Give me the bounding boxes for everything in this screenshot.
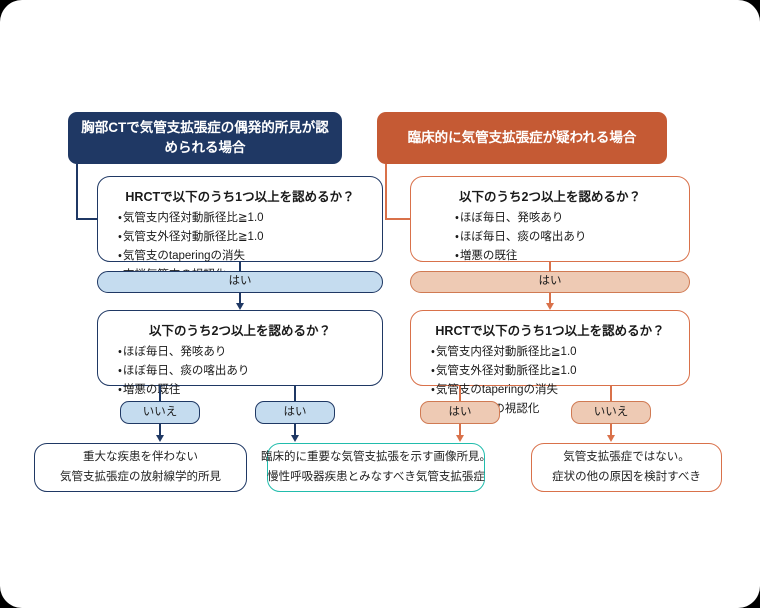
- left-arrow-yes-to-outcome: [291, 435, 299, 442]
- left-outcome-line-2: 気管支拡張症の放射線学的所見: [60, 468, 221, 488]
- flowchart-canvas: 胸部CTで気管支拡張症の偶発的所見が認められる場合 HRCTで以下のうち1つ以上…: [0, 0, 760, 608]
- right-answer-no-2[interactable]: いいえ: [571, 401, 651, 424]
- right-question-2-item-2: 気管支外径対動脈径比≧1.0: [431, 362, 675, 381]
- right-question-1-item-3: 増悪の既往: [455, 247, 675, 266]
- left-question-1-title: HRCTで以下のうち1つ以上を認めるか？: [112, 186, 368, 205]
- right-outcome-line-1: 気管支拡張症ではない。: [563, 448, 690, 468]
- right-header-banner: 臨床的に気管支拡張症が疑われる場合: [377, 112, 667, 164]
- left-answer-no-2[interactable]: いいえ: [120, 401, 200, 424]
- left-question-2-item-2: ほぼ毎日、痰の喀出あり: [118, 362, 368, 381]
- left-question-1[interactable]: HRCTで以下のうち1つ以上を認めるか？ 気管支内径対動脈径比≧1.0 気管支外…: [97, 176, 383, 262]
- shared-outcome-line-2: 慢性呼吸器疾患とみなすべき気管支拡張症: [267, 468, 485, 488]
- right-outcome-line-2: 症状の他の原因を検討すべき: [552, 468, 701, 488]
- right-connector-q2-to-no: [610, 386, 612, 402]
- right-arrow-yes-to-q2: [546, 303, 554, 310]
- left-outcome-radiologic[interactable]: 重大な疾患を伴わない 気管支拡張症の放射線学的所見: [34, 443, 247, 492]
- left-answer-no-2-label: いいえ: [143, 407, 178, 419]
- right-question-2[interactable]: HRCTで以下のうち1つ以上を認めるか？ 気管支内径対動脈径比≧1.0 気管支外…: [410, 310, 690, 386]
- left-question-2-list: ほぼ毎日、発咳あり ほぼ毎日、痰の喀出あり 増悪の既往: [112, 343, 368, 400]
- left-header-text: 胸部CTで気管支拡張症の偶発的所見が認められる場合: [80, 118, 330, 157]
- left-connector-header-vertical: [76, 164, 78, 220]
- left-connector-q2-to-no: [159, 386, 161, 402]
- right-question-1-list: ほぼ毎日、発咳あり ほぼ毎日、痰の喀出あり 増悪の既往: [425, 209, 675, 266]
- right-question-2-item-3: 気管支のtaperingの消失: [431, 381, 675, 400]
- shared-outcome-clinically-significant[interactable]: 臨床的に重要な気管支拡張を示す画像所見。 慢性呼吸器疾患とみなすべき気管支拡張症: [267, 443, 485, 492]
- right-answer-yes-1[interactable]: はい: [410, 271, 690, 293]
- left-question-2-title: 以下のうち2つ以上を認めるか？: [112, 320, 368, 339]
- left-answer-yes-1-label: はい: [229, 276, 252, 288]
- right-question-2-item-1: 気管支内径対動脈径比≧1.0: [431, 343, 675, 362]
- left-question-1-item-2: 気管支外径対動脈径比≧1.0: [118, 228, 368, 247]
- right-header-text: 臨床的に気管支拡張症が疑われる場合: [408, 128, 637, 148]
- left-outcome-line-1: 重大な疾患を伴わない: [83, 448, 198, 468]
- left-question-2-item-1: ほぼ毎日、発咳あり: [118, 343, 368, 362]
- right-connector-header-vertical: [385, 164, 387, 220]
- left-question-1-item-1: 気管支内径対動脈径比≧1.0: [118, 209, 368, 228]
- right-arrow-yes-to-shared-outcome: [456, 435, 464, 442]
- right-question-1[interactable]: 以下のうち2つ以上を認めるか？ ほぼ毎日、発咳あり ほぼ毎日、痰の喀出あり 増悪…: [410, 176, 690, 262]
- right-question-2-title: HRCTで以下のうち1つ以上を認めるか？: [425, 320, 675, 339]
- right-question-1-item-1: ほぼ毎日、発咳あり: [455, 209, 675, 228]
- right-question-1-item-2: ほぼ毎日、痰の喀出あり: [455, 228, 675, 247]
- shared-outcome-line-1: 臨床的に重要な気管支拡張を示す画像所見。: [261, 448, 491, 468]
- left-arrow-no-to-outcome: [156, 435, 164, 442]
- left-question-1-item-3: 気管支のtaperingの消失: [118, 247, 368, 266]
- left-connector-q2-to-yes: [294, 386, 296, 402]
- right-arrow-no-to-outcome: [607, 435, 615, 442]
- right-connector-q2-to-yes: [459, 386, 461, 402]
- left-question-2[interactable]: 以下のうち2つ以上を認めるか？ ほぼ毎日、発咳あり ほぼ毎日、痰の喀出あり 増悪…: [97, 310, 383, 386]
- right-answer-yes-2-label: はい: [449, 407, 472, 419]
- right-question-1-title: 以下のうち2つ以上を認めるか？: [425, 186, 675, 205]
- left-answer-yes-2-label: はい: [284, 407, 307, 419]
- right-answer-yes-1-label: はい: [539, 276, 562, 288]
- right-answer-no-2-label: いいえ: [594, 407, 629, 419]
- left-header-banner: 胸部CTで気管支拡張症の偶発的所見が認められる場合: [68, 112, 342, 164]
- left-question-2-item-3: 増悪の既往: [118, 381, 368, 400]
- right-answer-yes-2[interactable]: はい: [420, 401, 500, 424]
- right-outcome-not-bronchiectasis[interactable]: 気管支拡張症ではない。 症状の他の原因を検討すべき: [531, 443, 722, 492]
- right-connector-header-horizontal: [385, 218, 411, 220]
- left-arrow-yes-to-q2: [236, 303, 244, 310]
- left-answer-yes-2[interactable]: はい: [255, 401, 335, 424]
- left-answer-yes-1[interactable]: はい: [97, 271, 383, 293]
- left-connector-header-horizontal: [76, 218, 98, 220]
